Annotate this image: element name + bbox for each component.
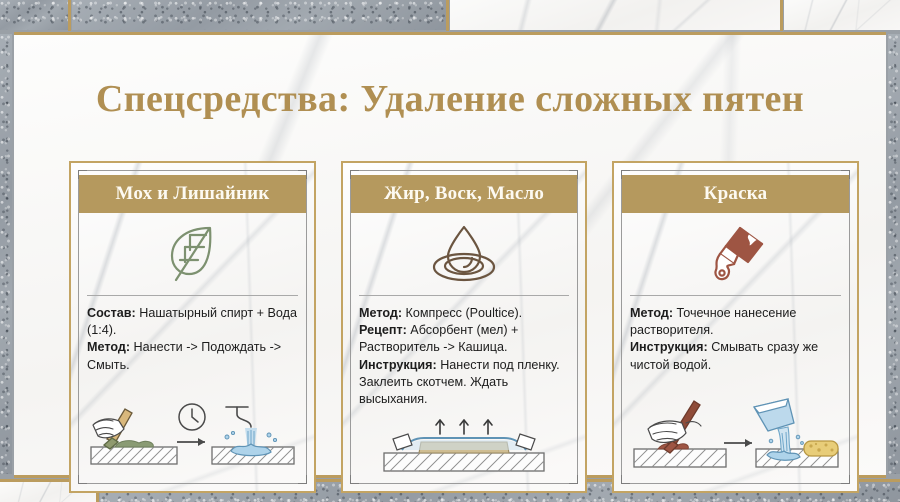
bg-tile-granite	[72, 0, 446, 30]
card-illustration	[343, 417, 585, 491]
scene-solvent-then-rinse-icon	[628, 393, 843, 475]
card-body-text: Состав: Нашатырный спирт + Вода (1:4). М…	[87, 305, 298, 374]
text-line: Метод: Нанести -> Подождать -> Смыть.	[87, 339, 298, 373]
card-divider	[359, 295, 569, 296]
slide-canvas: Спецсредства: Удаление сложных пятен Мох…	[0, 0, 900, 502]
bg-tile-marble	[450, 0, 780, 30]
bg-tile-granite	[0, 34, 12, 474]
card-header-band: Жир, Воск, Масло	[351, 175, 577, 213]
water-droplet-ripple-icon	[431, 222, 497, 286]
page-title: Спецсредства: Удаление сложных пятен	[14, 77, 886, 121]
text-line: Рецепт: Абсорбент (мел) + Растворитель -…	[359, 322, 569, 356]
text-label: Метод:	[359, 306, 402, 320]
paint-brush-icon	[704, 222, 768, 286]
card-icon-zone	[71, 213, 314, 295]
card-divider	[630, 295, 841, 296]
text-line: Состав: Нашатырный спирт + Вода (1:4).	[87, 305, 298, 339]
card-moss-lichen[interactable]: Мох и Лишайник Сост	[69, 161, 316, 493]
text-value: Компресс (Poultice).	[402, 306, 522, 320]
card-title: Мох и Лишайник	[116, 183, 270, 205]
scene-poultice-cross-section-icon	[364, 417, 564, 475]
text-line: Инструкция: Нанести под пленку. Заклеить…	[359, 357, 569, 409]
card-title: Краска	[704, 183, 768, 205]
text-line: Метод: Точечное нанесение растворителя.	[630, 305, 841, 339]
card-body-text: Метод: Точечное нанесение растворителя. …	[630, 305, 841, 374]
card-paint[interactable]: Краска	[612, 161, 859, 493]
card-illustration	[614, 393, 857, 491]
text-label: Инструкция:	[630, 340, 708, 354]
bg-tile-granite	[888, 34, 900, 474]
card-illustration	[71, 395, 314, 491]
card-row: Мох и Лишайник Сост	[69, 161, 859, 493]
leaf-icon	[162, 222, 224, 286]
content-panel: Спецсредства: Удаление сложных пятен Мох…	[14, 32, 886, 478]
text-label: Рецепт:	[359, 323, 407, 337]
text-line: Метод: Компресс (Poultice).	[359, 305, 569, 322]
scene-apply-wait-rinse-icon	[85, 395, 300, 475]
grout-line	[68, 0, 71, 31]
card-header-band: Краска	[622, 175, 849, 213]
grout-line	[446, 0, 449, 31]
card-header-band: Мох и Лишайник	[79, 175, 306, 213]
text-label: Метод:	[630, 306, 673, 320]
bg-tile-marble	[784, 0, 900, 30]
card-body-text: Метод: Компресс (Poultice). Рецепт: Абсо…	[359, 305, 569, 408]
card-divider	[87, 295, 298, 296]
card-title: Жир, Воск, Масло	[384, 183, 544, 205]
grout-line	[780, 0, 783, 31]
text-label: Состав:	[87, 306, 136, 320]
card-icon-zone	[614, 213, 857, 295]
text-line: Инструкция: Смывать сразу же чистой водо…	[630, 339, 841, 373]
text-label: Метод:	[87, 340, 130, 354]
text-label: Инструкция:	[359, 358, 437, 372]
bg-tile-granite	[0, 0, 68, 30]
card-icon-zone	[343, 213, 585, 295]
card-grease-wax-oil[interactable]: Жир, Воск, Масло Метод: Компресс (	[341, 161, 587, 493]
